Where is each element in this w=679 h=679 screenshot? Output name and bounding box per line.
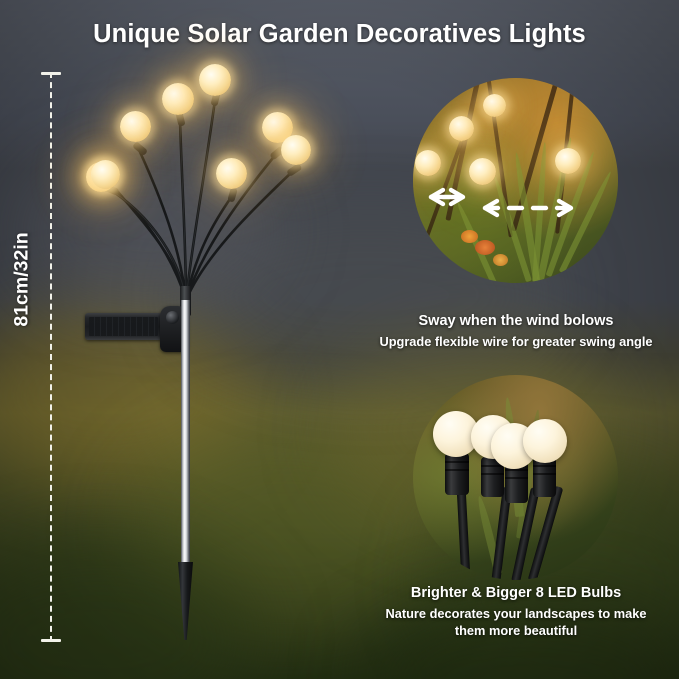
inset-photo-sway bbox=[413, 78, 618, 283]
hinge-knob bbox=[166, 311, 179, 324]
solar-garden-light-stake bbox=[0, 0, 380, 679]
led-bulb bbox=[216, 158, 247, 189]
feature-caption-sway: Sway when the wind bolows Upgrade flexib… bbox=[374, 313, 658, 350]
feature-subtext: Upgrade flexible wire for greater swing … bbox=[374, 333, 658, 350]
feature-subtext-line1: Nature decorates your landscapes to make bbox=[374, 605, 658, 622]
feature-subtext-line2: them more beautiful bbox=[374, 622, 658, 639]
feature-heading: Sway when the wind bolows bbox=[374, 313, 658, 329]
chrome-pole bbox=[181, 300, 190, 568]
feature-heading: Brighter & Bigger 8 LED Bulbs bbox=[374, 585, 658, 601]
inset-photo-bulbs bbox=[413, 375, 618, 580]
sway-annotation-arrows bbox=[413, 78, 618, 283]
led-bulb-closeup bbox=[523, 419, 567, 463]
feature-caption-bulbs: Brighter & Bigger 8 LED Bulbs Nature dec… bbox=[374, 585, 658, 639]
led-bulb bbox=[199, 64, 231, 96]
bulb-socket bbox=[445, 453, 469, 495]
solar-panel bbox=[85, 313, 162, 340]
led-bulb bbox=[91, 160, 120, 189]
led-bulb bbox=[120, 111, 151, 142]
bulb-socket bbox=[533, 457, 556, 497]
product-infographic: Unique Solar Garden Decoratives Lights 8… bbox=[0, 0, 679, 679]
led-bulb bbox=[162, 83, 194, 115]
bulb-collars bbox=[95, 91, 302, 202]
led-bulb bbox=[281, 135, 311, 165]
